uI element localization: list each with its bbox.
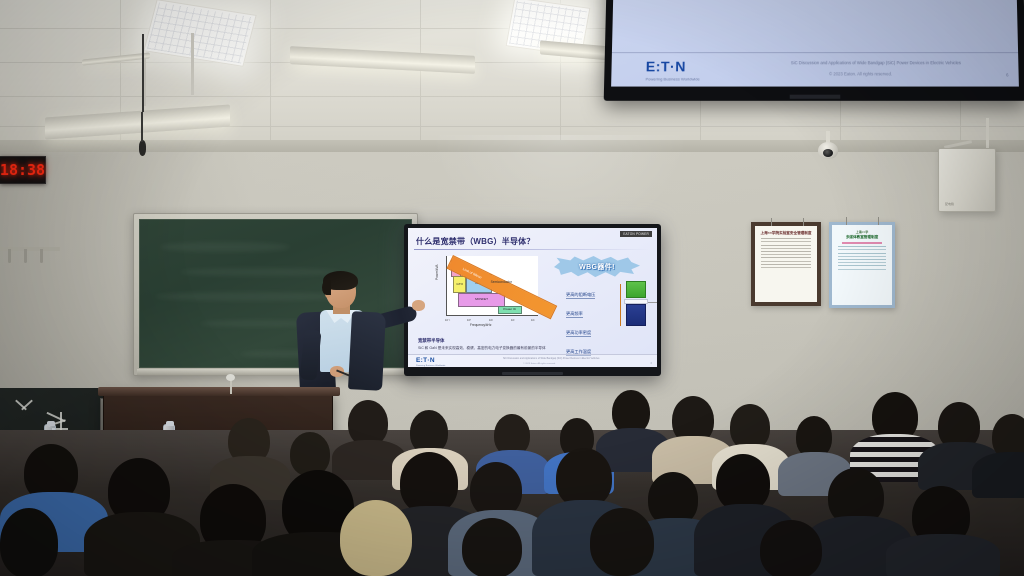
screen-stand — [502, 372, 564, 375]
lamp-rod-1 — [191, 33, 194, 95]
audience-head — [760, 520, 822, 576]
chart-xtick: 10² — [489, 319, 493, 322]
poster-title: 多媒体教室管理制度 — [832, 235, 892, 240]
audience-head — [590, 508, 654, 576]
wbg-starburst-text: WBG器件! — [579, 262, 615, 272]
podium-top-surface — [98, 387, 340, 396]
chart-region-gto: GTO — [453, 276, 466, 293]
monitor-footer: E:T·N Powering Business Worldwide SiC Di… — [611, 52, 1019, 86]
cabinet-conduit — [986, 118, 989, 150]
slide-body-text: SiC 和 GaN 是未来实现高效、稳健、高密的电力电子变换器的最有前景的半导体 — [418, 346, 546, 351]
monitor-copyright: © 2023 Eaton. All rights reserved. — [829, 71, 892, 76]
device-application-chart: Thyristor GTO IGBT MOSFET Power IC Limit… — [436, 254, 540, 326]
slide-page-number: 6 — [651, 362, 652, 365]
hanging-microphone — [139, 140, 146, 156]
module-callout-line — [648, 302, 657, 303]
slide-badge: EATON POWER — [620, 231, 652, 237]
chart-xlabel: Frequency/kHz — [470, 323, 491, 327]
slide-footer: E:T·N Powering Business Worldwide SiC Di… — [408, 354, 657, 367]
wall-hook — [24, 249, 27, 263]
camera-lens-icon — [823, 149, 833, 157]
presenter-pointing-hand — [412, 300, 425, 311]
cabinet-label: 配电箱 — [945, 202, 954, 206]
chart-xtick: 10⁶ — [531, 319, 535, 322]
audience-shoulders — [972, 452, 1024, 498]
bullet-item: 更高的阻断电压 — [566, 292, 595, 299]
hanging-microphone-wire-2 — [141, 112, 143, 142]
slide-subtitle: 宽禁带半导体 — [418, 338, 444, 344]
wall-electrical-cabinet: 配电箱 — [938, 148, 996, 212]
slide-title: 什么是宽禁带（WBG）半导体？ — [416, 236, 535, 247]
chart-plot-area: Thyristor GTO IGBT MOSFET Power IC Limit… — [446, 256, 538, 316]
audience-head — [556, 448, 612, 508]
presenter-sideburn — [322, 280, 331, 295]
eaton-logo: E:T·N — [416, 357, 435, 364]
chart-region-power-ic: Power IC — [498, 306, 522, 314]
poster-title: 上海××学院实验室安全管理制度 — [755, 231, 817, 236]
slide-bullet-list: 更高的阻断电压 更高频率 更高功率密度 更高工作温度 — [566, 283, 595, 359]
lecture-hall-photo: 18:38 EATON POWER 什么是宽禁带（WBG）半导体？ Thyris… — [0, 0, 1024, 576]
slide-title-rule — [414, 249, 650, 250]
monitor-stand — [790, 95, 841, 99]
wbg-starburst: WBG器件! — [554, 256, 640, 278]
presenter — [292, 272, 410, 392]
wall-hook — [8, 249, 11, 263]
chart-annotation: Semiconductor — [491, 280, 512, 284]
eaton-tagline: Powering Business Worldwide — [416, 365, 445, 367]
audience-head — [462, 518, 522, 576]
chart-xtick: 10⁻² — [445, 319, 450, 322]
wall-poster-1: 上海××学院实验室安全管理制度 — [751, 222, 821, 306]
monitor-eaton-logo: E:T·N — [646, 58, 686, 74]
monitor-footer-note: SiC Discussion and Applications of Wide … — [791, 60, 961, 65]
chart-xtick: 10⁰ — [467, 319, 471, 322]
wall-hook — [40, 249, 43, 263]
audience-head — [340, 500, 412, 576]
bullet-item: 更高功率密度 — [566, 330, 591, 337]
module-blue-block — [626, 304, 646, 326]
hanging-microphone-wire — [142, 34, 144, 112]
module-size-arrow — [620, 284, 621, 326]
podium-microphone — [226, 374, 235, 381]
bullet-item: 更高频率 — [566, 311, 583, 318]
chart-ylabel: Power/kVA — [435, 264, 439, 280]
audience-head — [290, 432, 330, 476]
audience-head — [0, 508, 58, 576]
chart-xtick: 10⁴ — [511, 319, 515, 322]
audience-head — [400, 452, 458, 514]
slide-footer-note: SiC Discussion and Applications of Wide … — [503, 357, 599, 360]
wall-digital-clock: 18:38 — [0, 156, 46, 184]
poster-subtitle: 上海××学 — [832, 230, 892, 234]
presenter-jacket-right — [348, 311, 386, 391]
projection-screen[interactable]: EATON POWER 什么是宽禁带（WBG）半导体？ Thyristor GT… — [404, 224, 661, 376]
monitor-eaton-tagline: Powering Business Worldwide — [646, 76, 700, 81]
module-green-block — [626, 281, 646, 298]
slide-copyright: © 2023 Eaton. All rights reserved. — [523, 363, 556, 365]
wall-poster-2: 上海××学 多媒体教室管理制度 — [829, 222, 895, 308]
slide-content: EATON POWER 什么是宽禁带（WBG）半导体？ Thyristor GT… — [408, 228, 657, 367]
audience-shoulders — [886, 534, 1000, 576]
overhead-monitor-screen: MOSFET Power IC 10⁻¹ 10⁻² 10⁰ 10² 10⁴ 10… — [611, 0, 1019, 87]
overhead-monitor[interactable]: MOSFET Power IC 10⁻¹ 10⁻² 10⁰ 10² 10⁴ 10… — [604, 0, 1024, 101]
monitor-page-number: 6 — [1006, 72, 1009, 77]
clock-time: 18:38 — [0, 161, 45, 179]
